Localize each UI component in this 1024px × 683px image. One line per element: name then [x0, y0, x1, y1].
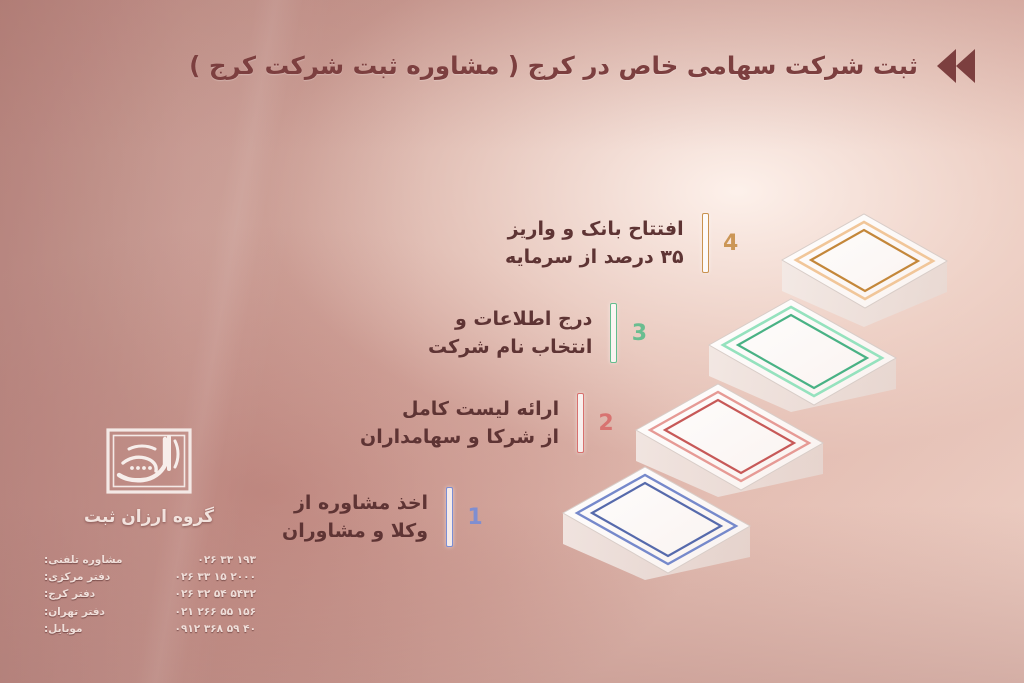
contact-value: ۰۲۶ ۳۳ ۱۹۳: [197, 554, 256, 566]
contact-label: دفتر تهران:: [44, 606, 105, 618]
step-text-4-line2: ۳۵ درصد از سرمایه: [505, 246, 684, 268]
step-text-2-line2: از شرکا و سهامداران: [360, 426, 559, 448]
step-text-2-line1: ارائه لیست کامل: [402, 398, 559, 420]
step-accent-bar-4: [702, 213, 709, 273]
step-label-4: 4 افتتاح بانک و واریز ۳۵ درصد از سرمایه: [505, 213, 753, 273]
contact-row: ۰۲۶ ۳۳ ۱۵ ۲۰۰۰ دفتر مرکزی:: [44, 568, 256, 585]
contact-label: دفتر مرکزی:: [44, 571, 110, 583]
step-label-3: 3 درج اطلاعات و انتخاب نام شرکت: [428, 303, 661, 363]
step-text-3: درج اطلاعات و انتخاب نام شرکت: [428, 305, 610, 362]
step-accent-bar-2: [577, 393, 584, 453]
contact-value: ۰۹۱۲ ۳۶۸ ۵۹ ۴۰: [175, 623, 256, 635]
contact-value: ۰۲۱ ۲۶۶ ۵۵ ۱۵۶: [175, 606, 256, 618]
step-text-4: افتتاح بانک و واریز ۳۵ درصد از سرمایه: [505, 215, 702, 272]
step-accent-bar-1: [446, 487, 453, 547]
contact-label: مشاوره تلفنی:: [44, 554, 122, 566]
step-label-2: 2 ارائه لیست کامل از شرکا و سهامداران: [360, 393, 628, 453]
contact-label: موبایل:: [44, 623, 82, 635]
step-text-4-line1: افتتاح بانک و واریز: [508, 218, 684, 240]
step-label-1: 1 اخذ مشاوره از وکلا و مشاوران: [282, 487, 497, 547]
contact-row: ۰۹۱۲ ۳۶۸ ۵۹ ۴۰ موبایل:: [44, 621, 256, 638]
step-number-2: 2: [584, 411, 628, 436]
contact-value: ۰۲۶ ۳۳ ۱۵ ۲۰۰۰: [175, 571, 256, 583]
contact-value: ۰۲۶ ۳۲ ۵۴ ۵۴۳۲: [175, 588, 256, 600]
step-accent-bar-3: [610, 303, 617, 363]
step-text-1-line2: وکلا و مشاوران: [282, 520, 428, 542]
step-number-4: 4: [709, 231, 753, 256]
step-number-1: 1: [453, 505, 497, 530]
step-text-1: اخذ مشاوره از وکلا و مشاوران: [282, 489, 446, 546]
step-text-1-line1: اخذ مشاوره از: [294, 492, 428, 514]
contact-row: ۰۲۱ ۲۶۶ ۵۵ ۱۵۶ دفتر تهران:: [44, 603, 256, 620]
contact-label: دفتر کرج:: [44, 588, 95, 600]
arzan-sabt-calligraphy-logo-icon: [99, 425, 199, 497]
contact-row: ۰۲۶ ۳۲ ۵۴ ۵۴۳۲ دفتر کرج:: [44, 586, 256, 603]
brand-block: گروه ارزان ثبت: [44, 425, 254, 527]
step-text-2: ارائه لیست کامل از شرکا و سهامداران: [360, 395, 577, 452]
step-text-3-line2: انتخاب نام شرکت: [428, 336, 592, 358]
brand-name: گروه ارزان ثبت: [44, 507, 254, 527]
step-text-3-line1: درج اطلاعات و: [455, 308, 592, 330]
step-number-3: 3: [617, 321, 661, 346]
contact-list: ۰۲۶ ۳۳ ۱۹۳ مشاوره تلفنی: ۰۲۶ ۳۳ ۱۵ ۲۰۰۰ …: [44, 551, 256, 638]
contact-row: ۰۲۶ ۳۳ ۱۹۳ مشاوره تلفنی:: [44, 551, 256, 568]
